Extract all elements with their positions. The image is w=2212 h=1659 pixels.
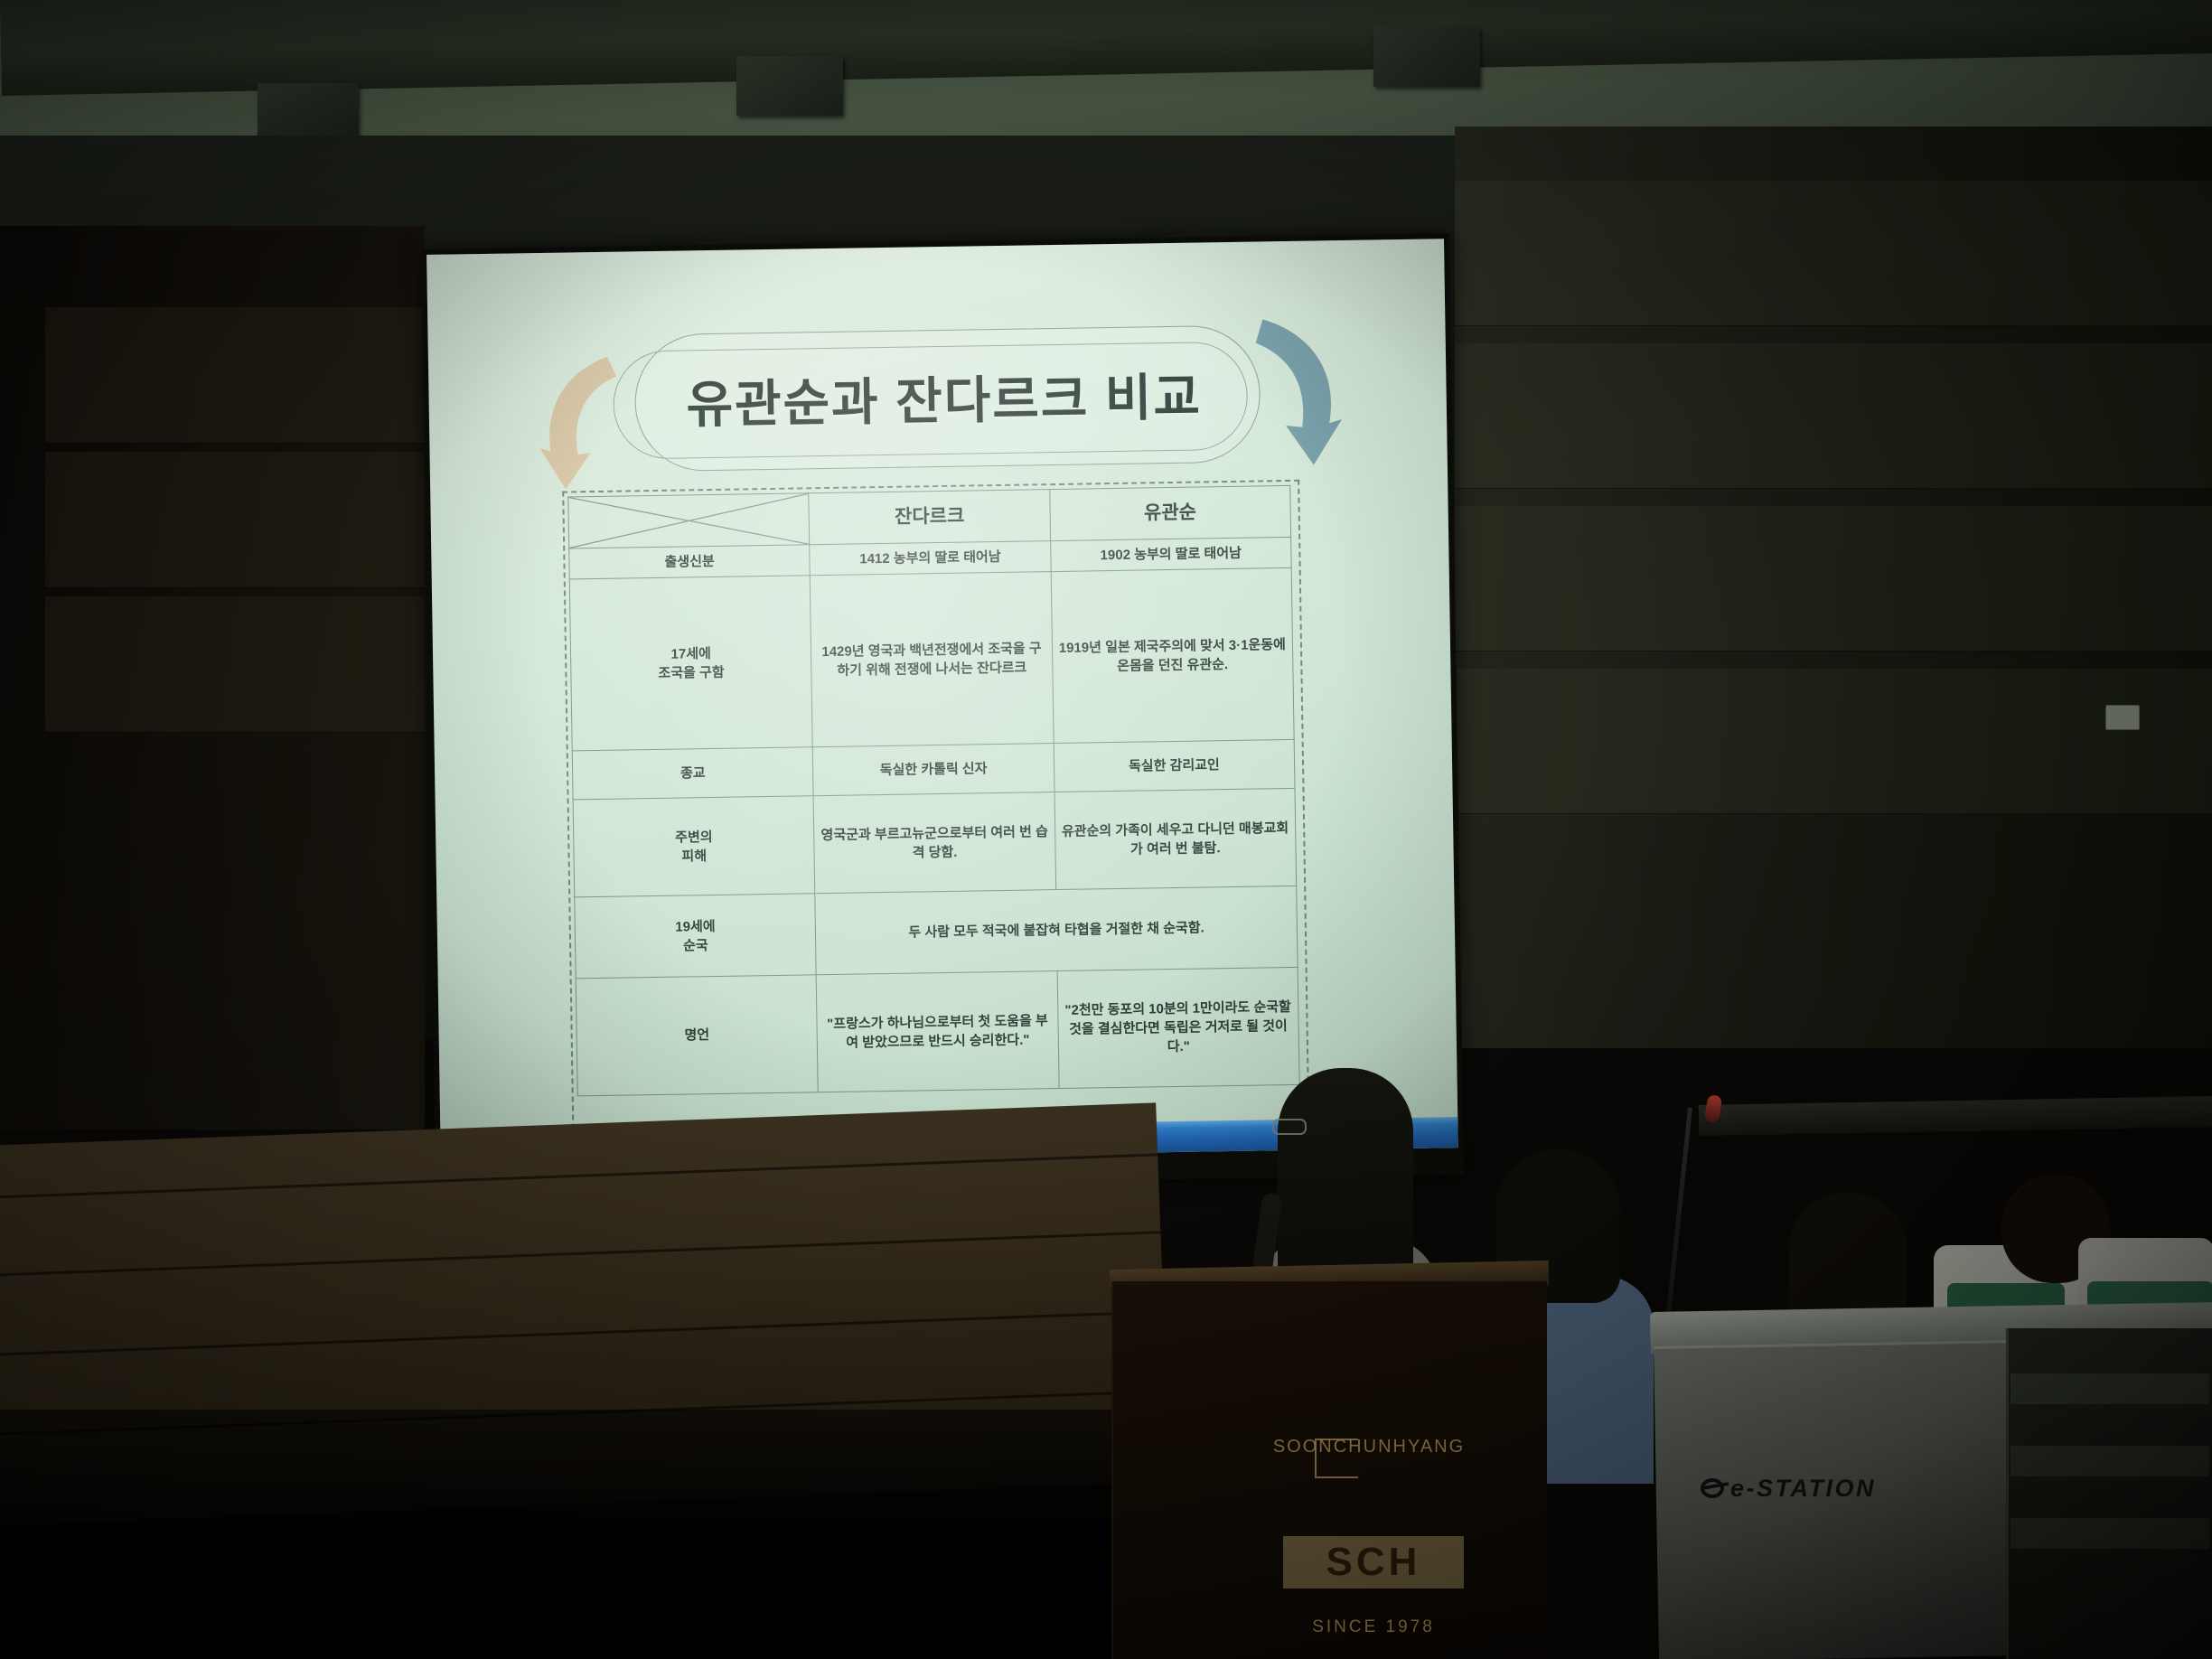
- table-row: 19세에 순국 두 사람 모두 적국에 붙잡혀 타협을 거절한 채 순국함.: [575, 886, 1298, 979]
- right-wall-panel-1: [1455, 181, 2212, 326]
- table-row: 주변의 피해 영국군과 부르고뉴군으로부터 여러 번 습격 당함. 유관순의 가…: [573, 789, 1297, 898]
- row-label-age17-line2: 조국을 구함: [576, 661, 807, 684]
- row-label-age17: 17세에 조국을 구함: [569, 576, 812, 751]
- comparison-table: 잔다르크 유관순 출생신분 1412 농부의 딸로 태어남 1902 농부의 딸…: [567, 485, 1299, 1097]
- ceiling-vent-2: [736, 56, 843, 116]
- table-corner-cell: [568, 493, 810, 548]
- stage-slat: [0, 1231, 1160, 1277]
- row-label-religion: 종교: [572, 747, 813, 800]
- cell-religion-yu: 독실한 감리교인: [1054, 740, 1295, 792]
- left-wall-panel-1: [45, 307, 425, 444]
- projection-screen-surface: 유관순과 잔다르크 비교 잔다: [426, 239, 1458, 1164]
- left-wall-panel-2: [45, 452, 425, 588]
- right-wall-panel-2: [1455, 343, 2212, 489]
- row-label-damage-line2: 피해: [578, 845, 810, 867]
- cell-age17-joan: 1429년 영국과 백년전쟁에서 조국을 구하기 위해 전쟁에 나서는 잔다르크: [811, 572, 1054, 747]
- podium-brand-line3: SINCE 1978: [1283, 1617, 1464, 1637]
- row-label-martyrdom-line2: 순국: [580, 934, 811, 957]
- podium-brand-line1: SOONCHUNHYANG: [1265, 1437, 1473, 1457]
- ceiling-vent-3: [1373, 27, 1480, 87]
- equipment-rack-label: e-STATION: [1730, 1475, 2001, 1503]
- row-label-quote: 명언: [576, 975, 818, 1096]
- slide-title-block: 유관순과 잔다르크 비교: [545, 300, 1343, 493]
- cross-out-icon: [568, 493, 809, 548]
- right-wall: [1455, 127, 2212, 1048]
- stage-shadow: [0, 1410, 1175, 1659]
- cell-quote-joan: "프랑스가 하나님으로부터 첫 도움을 부여 받았으므로 반드시 승리한다.": [816, 971, 1058, 1092]
- cell-birth-yu: 1902 농부의 딸로 태어남: [1050, 537, 1291, 571]
- cell-damage-joan: 영국군과 부르고뉴군으로부터 여러 번 습격 당함.: [813, 792, 1055, 894]
- row-label-martyrdom: 19세에 순국: [575, 894, 817, 979]
- stage-slat: [0, 1310, 1164, 1356]
- cabinet-stripe: [2010, 1373, 2209, 1404]
- left-wall-panel-3: [45, 596, 425, 733]
- podium-brand-line2: SCH: [1283, 1536, 1464, 1589]
- cabinet-stripe: [2010, 1446, 2209, 1476]
- projection-screen: 유관순과 잔다르크 비교 잔다: [421, 233, 1464, 1191]
- eyeglasses-icon: [1272, 1119, 1307, 1135]
- lecture-hall-photo: 유관순과 잔다르크 비교 잔다: [0, 0, 2212, 1659]
- left-wall: [0, 226, 425, 1129]
- ceiling-vent-1: [258, 83, 359, 139]
- cell-damage-yu: 유관순의 가족이 세우고 다니던 매봉교회가 여러 번 불탐.: [1054, 789, 1297, 890]
- cell-martyrdom-merged: 두 사람 모두 적국에 붙잡혀 타협을 거절한 채 순국함.: [815, 886, 1298, 975]
- page-title: 유관순과 잔다르크 비교: [545, 300, 1343, 493]
- right-wall-panel-3: [1455, 506, 2212, 651]
- stage-slat: [0, 1153, 1158, 1199]
- e-logo-icon: [1699, 1478, 1729, 1498]
- cell-age17-yu: 1919년 일본 제국주의에 맞서 3·1운동에 온몸을 던진 유관순.: [1051, 568, 1294, 744]
- row-label-damage: 주변의 피해: [573, 796, 815, 897]
- column-header-yu: 유관순: [1049, 485, 1290, 540]
- wall-outlet: [2105, 705, 2140, 730]
- right-wall-panel-4: [1455, 669, 2212, 814]
- row-label-birth: 출생신분: [569, 545, 811, 579]
- table-row: 17세에 조국을 구함 1429년 영국과 백년전쟁에서 조국을 구하기 위해 …: [569, 568, 1294, 752]
- circular-arrow-right-icon: [1232, 305, 1343, 470]
- seat-row-back: [1699, 1096, 2212, 1136]
- cell-quote-yu: "2천만 동포의 10분의 1만이라도 순국할 것을 결심한다면 독립은 거저로…: [1057, 968, 1299, 1089]
- column-header-joan: 잔다르크: [809, 490, 1050, 545]
- presentation-slide: 유관순과 잔다르크 비교 잔다: [426, 255, 1457, 1139]
- cell-birth-joan: 1412 농부의 딸로 태어남: [810, 541, 1051, 576]
- table-row: 명언 "프랑스가 하나님으로부터 첫 도움을 부여 받았으므로 반드시 승리한다…: [576, 968, 1299, 1097]
- cabinet-stripe: [2010, 1518, 2209, 1549]
- cell-religion-joan: 독실한 카톨릭 신자: [813, 744, 1054, 796]
